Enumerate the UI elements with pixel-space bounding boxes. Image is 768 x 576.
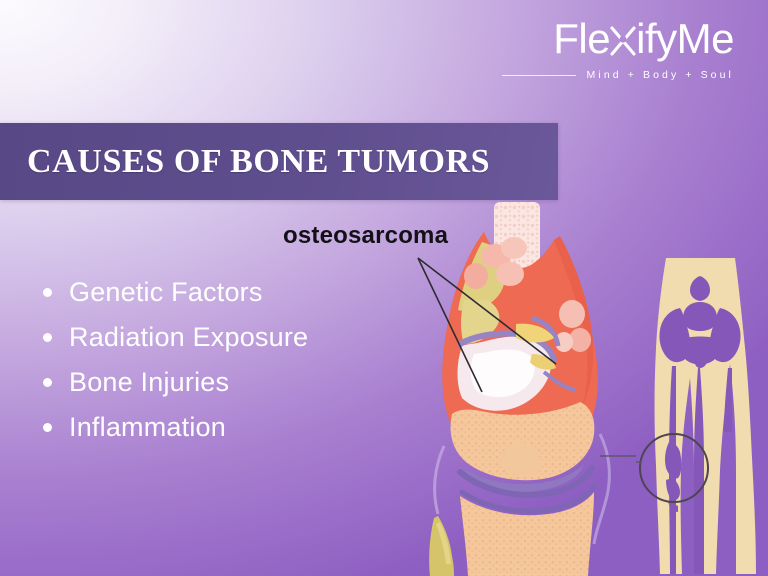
list-item-label: Genetic Factors — [69, 279, 263, 306]
list-item: Inflammation — [36, 405, 436, 450]
page-title: CAUSES OF BONE TUMORS — [27, 143, 490, 181]
bullet-dot-icon — [43, 423, 52, 432]
bullet-dot-icon — [43, 378, 52, 387]
tagline-rule — [502, 75, 576, 76]
knee-osteosarcoma-illustration — [404, 196, 636, 576]
title-banner: CAUSES OF BONE TUMORS — [0, 123, 558, 200]
causes-list: Genetic Factors Radiation Exposure Bone … — [36, 270, 436, 450]
slide-canvas: Fle ifyMe Mind + Body + Soul CAUSES OF B… — [0, 0, 768, 576]
brand-wordmark: Fle ifyMe — [553, 18, 734, 60]
list-item-label: Inflammation — [69, 414, 226, 441]
brand-logo: Fle ifyMe Mind + Body + Soul — [476, 18, 734, 81]
list-item-label: Radiation Exposure — [69, 324, 308, 351]
list-item: Bone Injuries — [36, 360, 436, 405]
flexify-x-figure-icon — [610, 26, 636, 56]
tagline-row: Mind + Body + Soul — [476, 69, 734, 81]
list-item: Radiation Exposure — [36, 315, 436, 360]
lower-body-skeleton-illustration — [636, 256, 768, 576]
brand-tagline: Mind + Body + Soul — [587, 69, 734, 81]
bullet-dot-icon — [43, 333, 52, 342]
list-item: Genetic Factors — [36, 270, 436, 315]
wordmark-part-post: ifyMe — [636, 15, 734, 62]
bullet-dot-icon — [43, 288, 52, 297]
list-item-label: Bone Injuries — [69, 369, 229, 396]
wordmark-part-pre: Fle — [553, 15, 610, 62]
